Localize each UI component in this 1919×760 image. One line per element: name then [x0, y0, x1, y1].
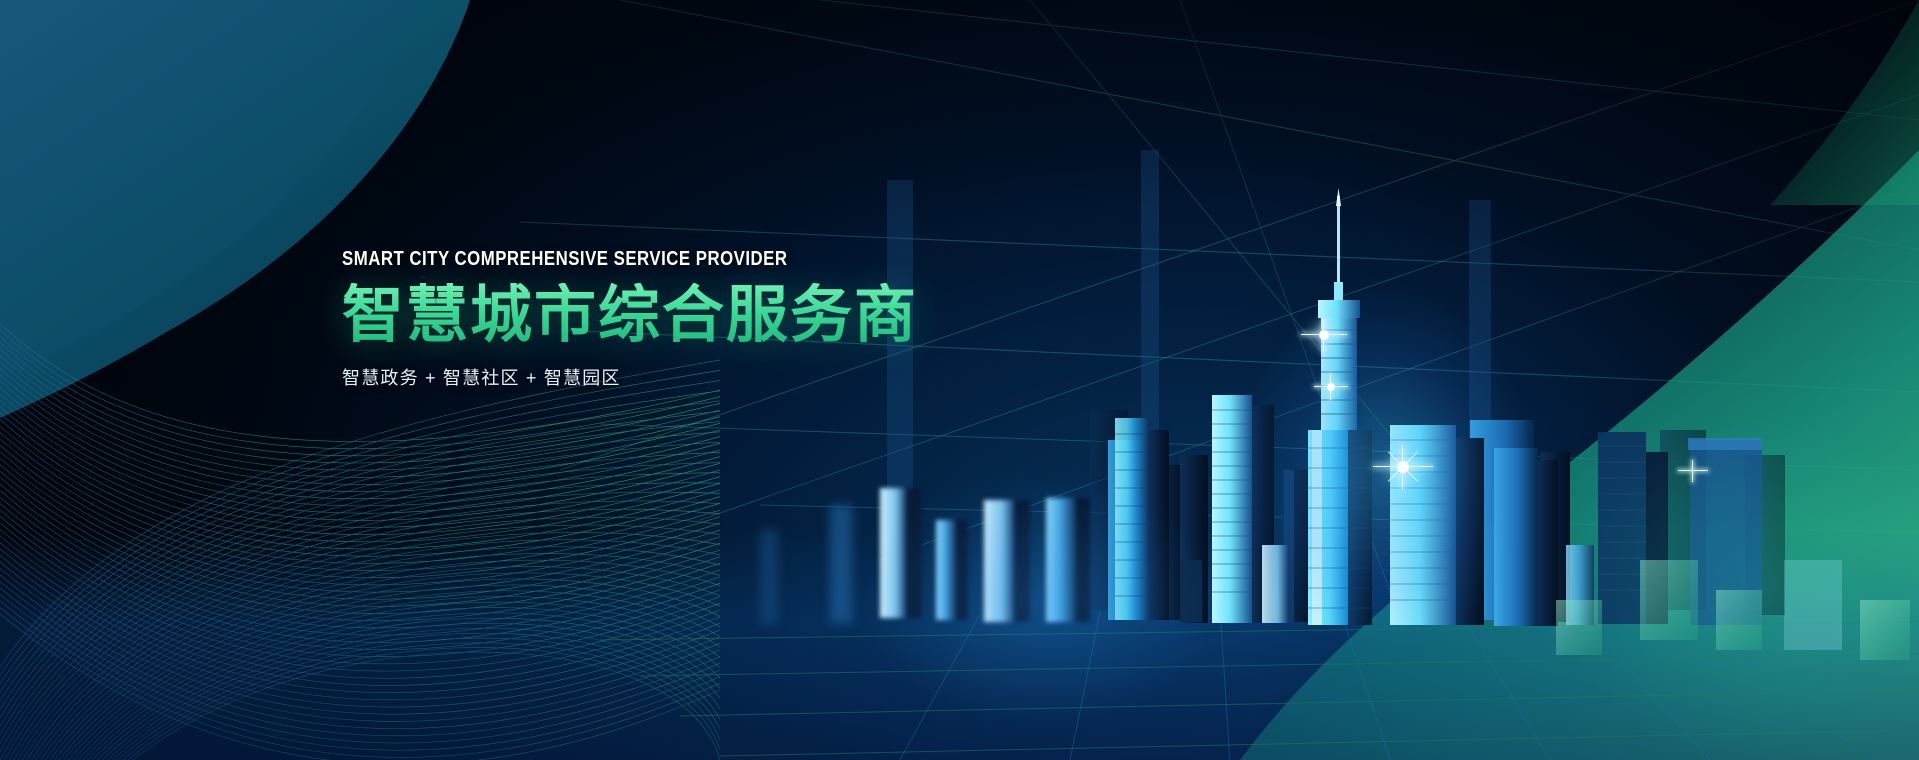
hero-eyebrow: SMART CITY COMPREHENSIVE SERVICE PROVIDE…	[342, 248, 867, 271]
hero-subline: 智慧政务 + 智慧社区 + 智慧园区	[342, 364, 982, 390]
hero-banner: SMART CITY COMPREHENSIVE SERVICE PROVIDE…	[0, 0, 1919, 760]
hero-headline: 智慧城市综合服务商	[342, 283, 982, 349]
hero-copy: SMART CITY COMPREHENSIVE SERVICE PROVIDE…	[342, 248, 982, 390]
